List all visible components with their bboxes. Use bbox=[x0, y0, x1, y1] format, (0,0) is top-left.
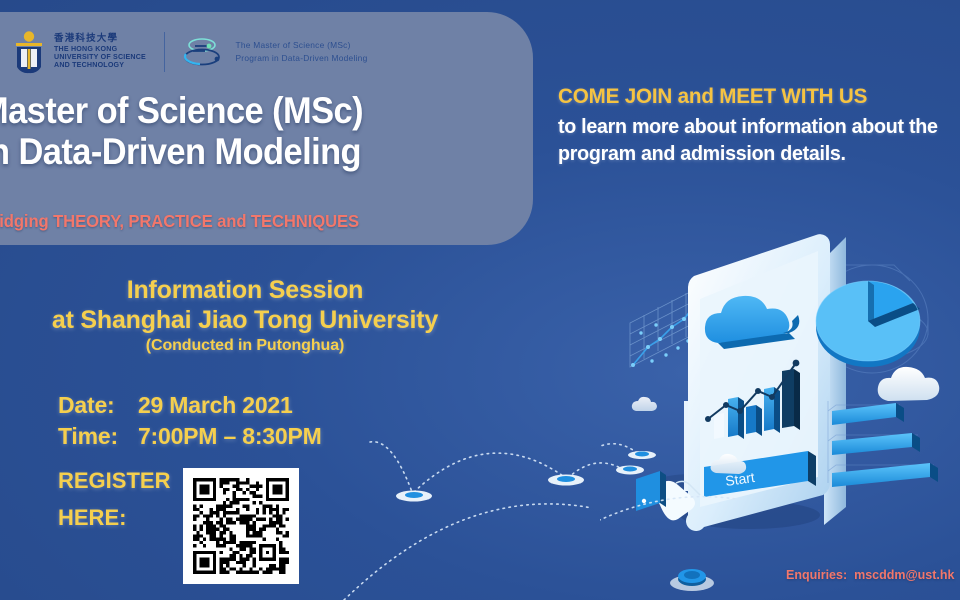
horizontal-bar-chart bbox=[828, 401, 938, 487]
scatter-grid-chart bbox=[630, 289, 697, 367]
cloud-decoration bbox=[878, 367, 940, 401]
hkust-logo-icon bbox=[12, 30, 46, 74]
logo-row: 香港科技大學 THE HONG KONG UNIVERSITY OF SCIEN… bbox=[12, 30, 368, 74]
datetime-block: Date: 29 March 2021 Time: 7:00PM – 8:30P… bbox=[58, 390, 322, 451]
cta-headline: COME JOIN and MEET WITH US bbox=[558, 84, 867, 109]
time-row: Time: 7:00PM – 8:30PM bbox=[58, 421, 322, 452]
hkust-wordmark: 香港科技大學 THE HONG KONG UNIVERSITY OF SCIEN… bbox=[54, 34, 146, 69]
trajectory-nodes bbox=[396, 466, 644, 502]
hkust-name-cn: 香港科技大學 bbox=[54, 34, 146, 45]
session-language: (Conducted in Putonghua) bbox=[0, 337, 490, 355]
page-title-line2: in Data-Driven Modeling bbox=[0, 131, 361, 172]
session-block: Information Session at Shanghai Jiao Ton… bbox=[0, 276, 490, 355]
time-value: 7:00PM – 8:30PM bbox=[138, 421, 322, 452]
register-label: REGISTER HERE: bbox=[58, 463, 170, 537]
msc-program-line1: The Master of Science (MSc) bbox=[235, 39, 367, 52]
poster-canvas: 香港科技大學 THE HONG KONG UNIVERSITY OF SCIEN… bbox=[0, 0, 960, 600]
dotted-trajectory bbox=[370, 420, 670, 600]
logo-divider bbox=[164, 32, 166, 72]
session-venue: at Shanghai Jiao Tong University bbox=[0, 306, 490, 336]
tagline: Bridging THEORY, PRACTICE and TECHNIQUES bbox=[0, 211, 359, 232]
cloud-decoration-tiny bbox=[632, 397, 657, 411]
msc-program-logo-icon bbox=[181, 32, 225, 72]
date-label: Date: bbox=[58, 390, 138, 421]
header-panel: 香港科技大學 THE HONG KONG UNIVERSITY OF SCIEN… bbox=[0, 12, 533, 245]
time-label: Time: bbox=[58, 421, 138, 452]
hkust-name-line3: AND TECHNOLOGY bbox=[54, 62, 146, 70]
button-node bbox=[670, 569, 714, 591]
register-label-line1: REGISTER bbox=[58, 463, 170, 500]
qr-code-image[interactable] bbox=[193, 478, 289, 574]
qr-code[interactable] bbox=[183, 468, 299, 584]
page-title-line1: Master of Science (MSc) bbox=[0, 90, 363, 131]
msc-program-line2: Program in Data-Driven Modeling bbox=[235, 52, 367, 65]
date-value: 29 March 2021 bbox=[138, 390, 322, 421]
pie-chart bbox=[816, 281, 920, 367]
session-title: Information Session bbox=[0, 276, 490, 306]
cta-body: to learn more about information about th… bbox=[558, 113, 942, 168]
register-label-line2: HERE: bbox=[58, 500, 170, 537]
msc-program-wordmark: The Master of Science (MSc) Program in D… bbox=[235, 39, 367, 64]
date-row: Date: 29 March 2021 bbox=[58, 390, 322, 421]
page-title: Master of Science (MSc) in Data-Driven M… bbox=[0, 90, 445, 173]
